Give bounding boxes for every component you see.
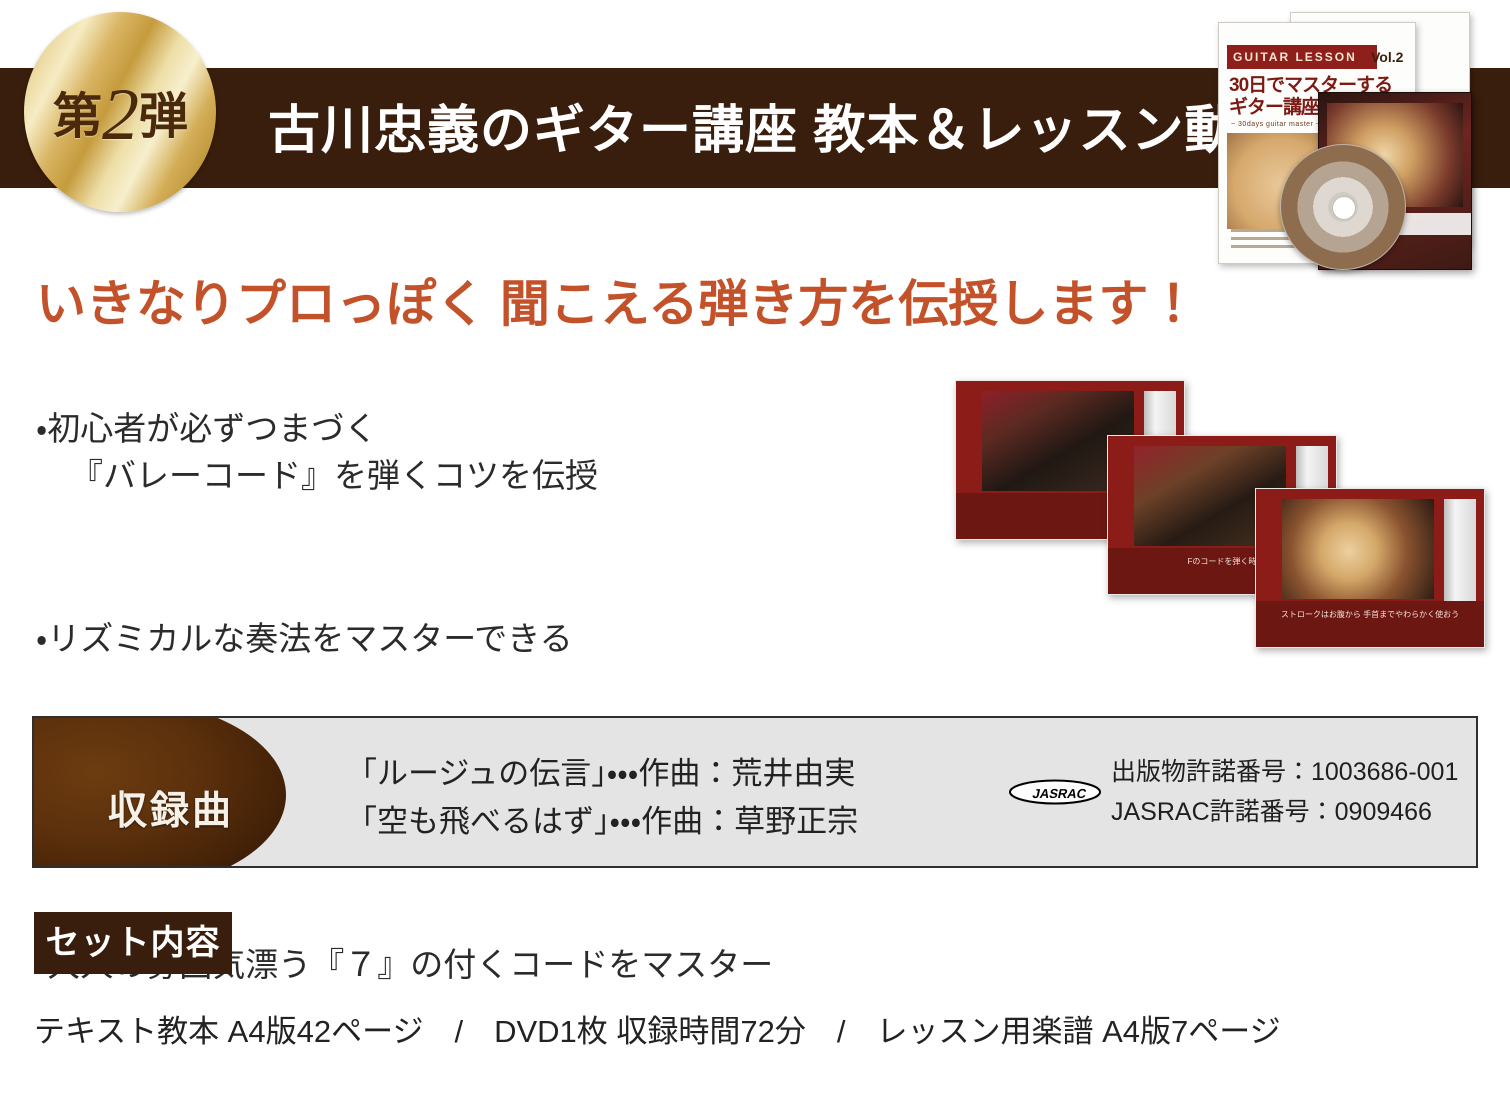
set-contents-text: テキスト教本 A4版42ページ / DVD1枚 収録時間72分 / レッスン用楽… — [34, 1006, 1281, 1051]
bullet-line-2: 『バレーコード』を弾くコツを伝授 — [36, 452, 936, 499]
medal-label: 第2弾 — [24, 12, 216, 212]
medal-suffix: 弾 — [139, 77, 187, 148]
jasrac-license-number: JASRAC許諾番号：0909466 — [1111, 792, 1458, 832]
list-item: ・初心者が必ずつまづく 『バレーコード』を弾くコツを伝授 — [36, 358, 936, 546]
bullet-line-1: ・初心者が必ずつまづく — [36, 410, 377, 447]
bullet-line-1: ・リズミカルな奏法をマスターできる — [36, 620, 573, 657]
svg-text:JASRAC: JASRAC — [1031, 786, 1088, 801]
main-headline: いきなりプロっぽく 聞こえる弾き方を伝授します！ — [36, 264, 1198, 336]
song-item: 「空も飛べるはず」・・・作曲：草野正宗 — [346, 798, 858, 846]
jasrac-license-block: JASRAC 出版物許諾番号：1003686-001 JASRAC許諾番号：09… — [1009, 752, 1458, 832]
set-contents-badge: セット内容 — [34, 912, 232, 974]
publication-license-number: 出版物許諾番号：1003686-001 — [1111, 752, 1458, 792]
package-volume-label: Vol.2 — [1371, 45, 1403, 69]
medal-prefix: 第 — [53, 77, 101, 148]
package-subtitle: ~ 30days guitar master ~ — [1231, 121, 1320, 128]
volume-medal-badge: 第2弾 — [24, 12, 216, 212]
product-package-image: GUITAR LESSON Vol.2 30日でマスターする ギター講座 ~ 3… — [1196, 4, 1496, 272]
song-list: 「ルージュの伝言」・・・作曲：荒井由実 「空も飛べるはず」・・・作曲：草野正宗 — [346, 750, 858, 846]
package-title-band: GUITAR LESSON — [1227, 45, 1377, 69]
song-item: 「ルージュの伝言」・・・作曲：荒井由実 — [346, 750, 858, 798]
page-title: 古川忠義のギター講座 教本＆レッスン動画 — [268, 95, 1228, 167]
lesson-thumbnail-photo — [1282, 499, 1434, 599]
lesson-thumbnail: ストロークはお腹から 手首までやわらかく使おう — [1255, 488, 1485, 648]
songs-section: 収録曲 「ルージュの伝言」・・・作曲：荒井由実 「空も飛べるはず」・・・作曲：草… — [32, 716, 1478, 868]
lesson-thumbnail-caption: ストロークはお腹から 手首までやわらかく使おう — [1256, 601, 1484, 647]
lesson-thumbnail-sidebar — [1444, 499, 1476, 611]
list-item: ・リズミカルな奏法をマスターできる — [36, 568, 936, 662]
medal-number: 2 — [101, 73, 139, 158]
dvd-disc — [1280, 144, 1406, 270]
lesson-video-thumbnails: Fのコードを弾く時 ストロークはお腹から 手首までやわらかく使おう — [955, 380, 1485, 640]
jasrac-logo-icon: JASRAC — [1009, 777, 1101, 807]
package-band-label: GUITAR LESSON — [1227, 45, 1377, 69]
jasrac-license-lines: 出版物許諾番号：1003686-001 JASRAC許諾番号：0909466 — [1111, 752, 1458, 832]
songs-label: 収録曲 — [108, 780, 234, 836]
